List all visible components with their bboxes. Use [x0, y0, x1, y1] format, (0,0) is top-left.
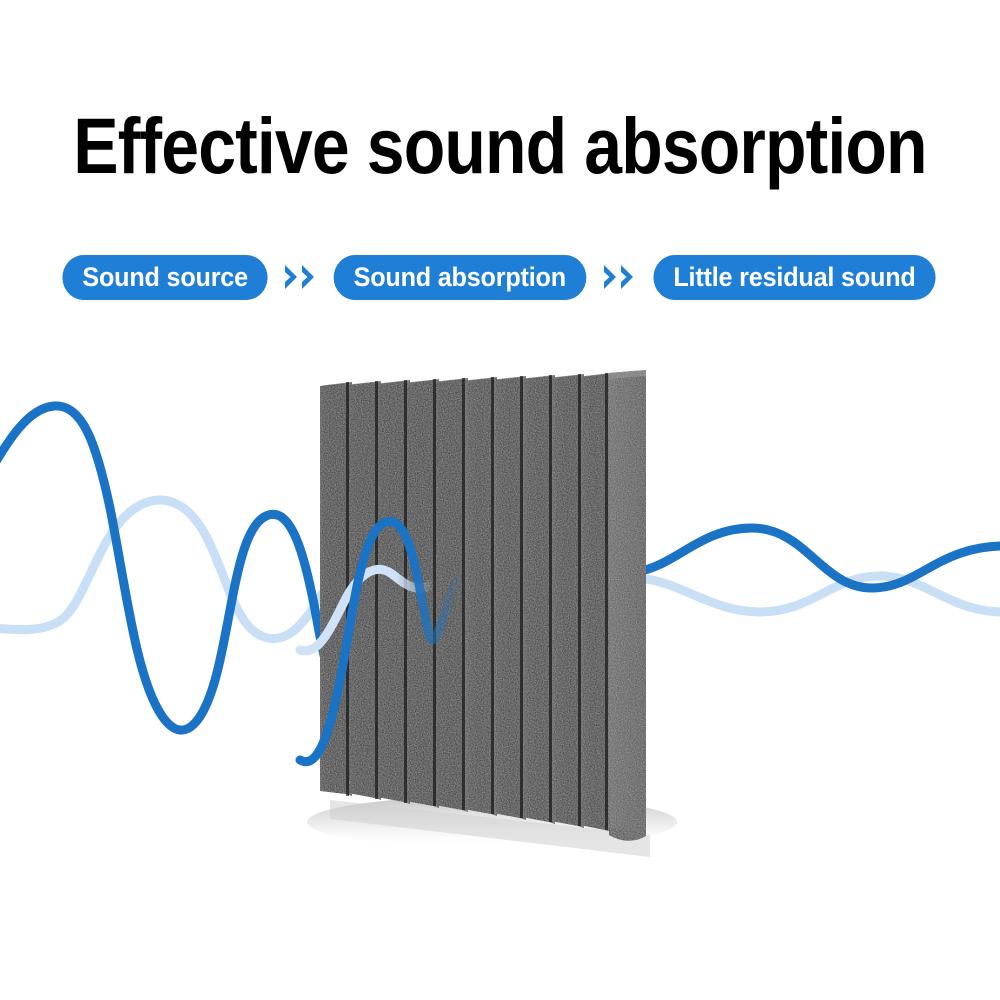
foam-panel-graphic — [0, 330, 1000, 890]
double-chevron-right-icon — [273, 264, 327, 290]
sound-absorption-illustration — [0, 330, 1000, 890]
flow-step-label: Sound source — [82, 262, 248, 293]
chevron-right-icon — [620, 264, 635, 290]
flow-step-label: Little residual sound — [674, 262, 916, 293]
process-flow: Sound source Sound absorption Little res… — [0, 253, 1000, 301]
chevron-right-icon — [284, 264, 299, 290]
flow-step-sound-absorption[interactable]: Sound absorption — [334, 255, 586, 300]
flow-step-label: Sound absorption — [354, 262, 566, 293]
acoustic-foam-panel — [0, 330, 1000, 890]
double-chevron-right-icon — [592, 264, 646, 290]
flow-step-sound-source[interactable]: Sound source — [62, 255, 267, 300]
chevron-right-icon — [301, 264, 316, 290]
flow-step-little-residual-sound[interactable]: Little residual sound — [654, 255, 936, 300]
promo-image: Effective sound absorption Sound source … — [0, 0, 1000, 1000]
chevron-right-icon — [603, 264, 618, 290]
page-title: Effective sound absorption — [70, 103, 930, 189]
